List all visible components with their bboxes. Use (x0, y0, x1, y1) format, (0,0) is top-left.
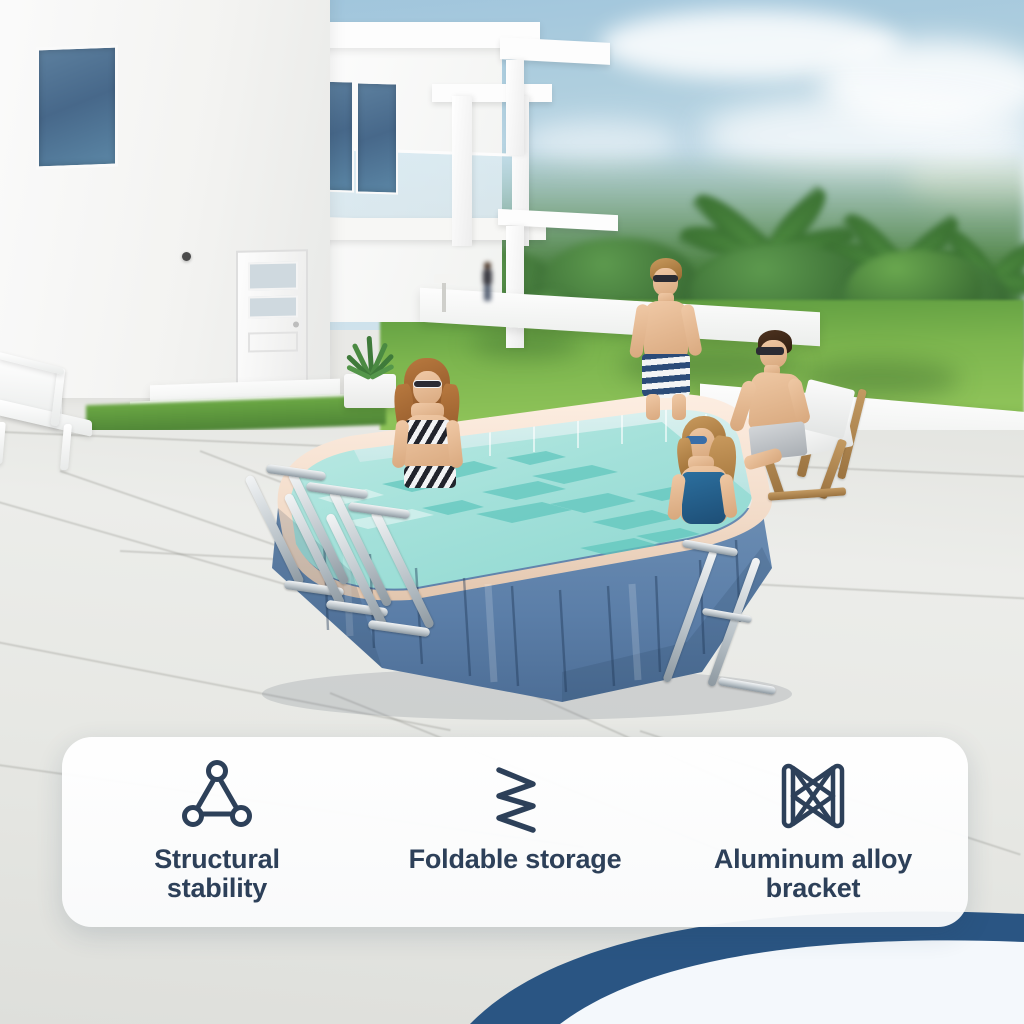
background-figure (480, 262, 494, 302)
wall-light-icon (182, 252, 191, 261)
pergola-beam (432, 84, 552, 102)
house-door (236, 249, 308, 385)
lawn-shadow (470, 330, 580, 358)
person-man-seated (730, 330, 840, 470)
feature-highlight-card: Structural stability Foldable storage (62, 737, 968, 927)
door-window (248, 261, 298, 290)
feature-item-structural-stability[interactable]: Structural stability (68, 753, 366, 915)
feature-label: Foldable storage (409, 845, 622, 874)
feature-label: Structural stability (154, 845, 280, 902)
sunglasses-icon (413, 380, 442, 388)
pool-support-ladder-right (672, 542, 792, 712)
door-window (248, 295, 298, 318)
person-woman-in-pool-left (382, 358, 478, 508)
white-lounge-chair (0, 352, 114, 472)
product-image-canvas: Structural stability Foldable storage (0, 0, 1024, 1024)
sunglasses-icon (756, 347, 784, 355)
door-knob (293, 321, 299, 327)
feature-item-aluminum-alloy-bracket[interactable]: Aluminum alloy bracket (664, 753, 962, 915)
feature-item-foldable-storage[interactable]: Foldable storage (366, 753, 664, 915)
zigzag-fold-icon (473, 753, 557, 839)
swimwear (642, 354, 690, 398)
pergola-column (506, 226, 524, 348)
sunglasses-icon (653, 275, 678, 282)
garden-lamp-icon (434, 268, 456, 312)
door-panel (248, 331, 298, 352)
window (356, 81, 398, 194)
triangle-truss-icon (175, 753, 259, 839)
pergola-column (506, 60, 524, 155)
person-man-standing (628, 258, 704, 418)
feature-label: Aluminum alloy bracket (714, 845, 912, 902)
swimwear-top (404, 420, 452, 444)
bracket-crossbrace-icon (771, 753, 855, 839)
swimwear-bottom (404, 466, 456, 488)
pergola-column (452, 96, 472, 246)
window (36, 44, 118, 169)
